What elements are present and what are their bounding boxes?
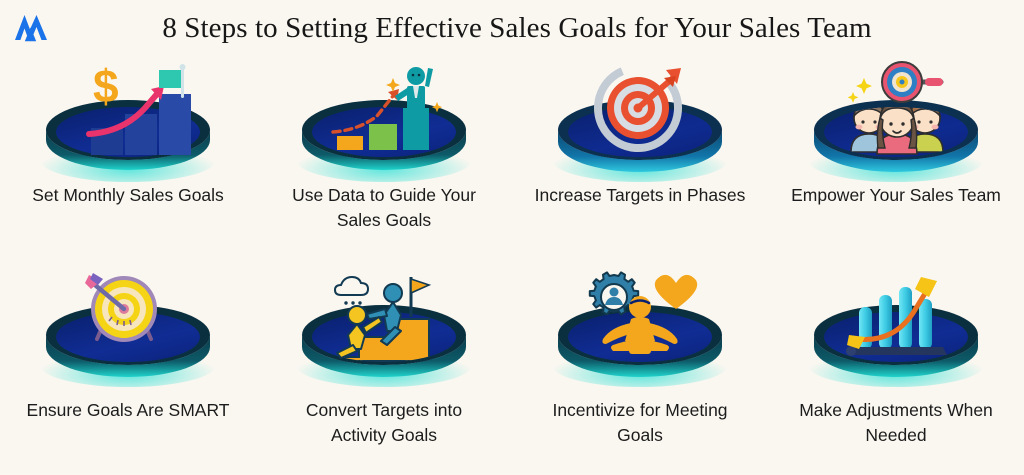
- page-header: 8 Steps to Setting Effective Sales Goals…: [0, 0, 1024, 56]
- step-label-3: Increase Targets in Phases: [533, 183, 748, 208]
- step-label-6: Convert Targets into Activity Goals: [277, 398, 492, 449]
- meditation-reward-icon: [545, 261, 735, 386]
- data-person-bars-icon: [289, 56, 479, 181]
- step-card-3[interactable]: Increase Targets in Phases: [512, 56, 768, 261]
- steps-grid: $ Set Monthly Sales Goals: [0, 56, 1024, 471]
- mountain-logo-icon[interactable]: [10, 7, 52, 49]
- step-card-4[interactable]: Empower Your Sales Team: [768, 56, 1024, 261]
- gold-target-arrow-icon: [33, 261, 223, 386]
- svg-text:$: $: [93, 60, 119, 112]
- step-card-2[interactable]: Use Data to Guide Your Sales Goals: [256, 56, 512, 261]
- step-card-7[interactable]: Incentivize for Meeting Goals: [512, 261, 768, 471]
- step-label-5: Ensure Goals Are SMART: [21, 398, 236, 423]
- page-title: 8 Steps to Setting Effective Sales Goals…: [52, 12, 1024, 45]
- step-label-2: Use Data to Guide Your Sales Goals: [277, 183, 492, 234]
- target-dart-icon: [545, 56, 735, 181]
- step-label-8: Make Adjustments When Needed: [789, 398, 1004, 449]
- dollar-growth-flag-icon: $: [33, 56, 223, 181]
- step-card-8[interactable]: Make Adjustments When Needed: [768, 261, 1024, 471]
- step-label-4: Empower Your Sales Team: [789, 183, 1004, 208]
- step-card-1[interactable]: $ Set Monthly Sales Goals: [0, 56, 256, 261]
- step-label-7: Incentivize for Meeting Goals: [533, 398, 748, 449]
- step-card-6[interactable]: Convert Targets into Activity Goals: [256, 261, 512, 471]
- sales-team-icon: [801, 56, 991, 181]
- bar-chart-rising-arrow-icon: [801, 261, 991, 386]
- step-label-1: Set Monthly Sales Goals: [21, 183, 236, 208]
- stairs-climb-flag-icon: [289, 261, 479, 386]
- step-card-5[interactable]: Ensure Goals Are SMART: [0, 261, 256, 471]
